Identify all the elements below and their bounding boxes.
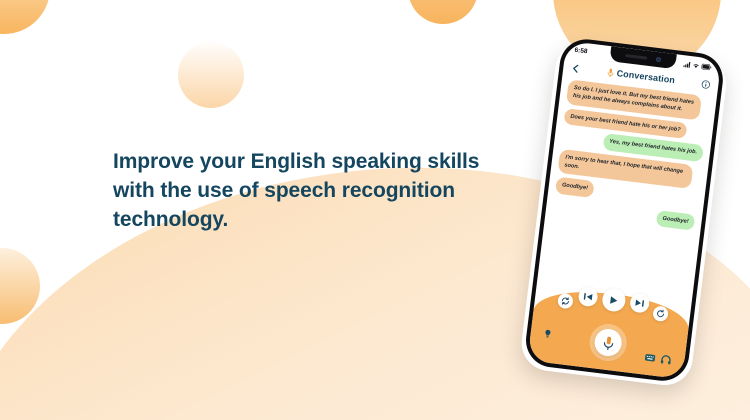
record-mic-button[interactable] — [593, 328, 623, 358]
media-controls-row — [534, 275, 693, 325]
mic-record-icon — [601, 335, 615, 350]
message-list: So do I. I just love it. But my best fri… — [545, 76, 717, 233]
signal-icon — [683, 61, 691, 68]
front-camera-icon — [656, 57, 662, 63]
bottom-right-actions — [644, 350, 672, 364]
back-chevron-icon[interactable] — [571, 63, 581, 73]
phone-mockup: 6:58 — [514, 33, 750, 394]
message-bubble: Goodbye! — [656, 210, 696, 231]
phone-screen: 6:58 — [527, 41, 721, 380]
decor-circle-mid-small — [178, 42, 244, 108]
next-track-icon — [633, 297, 645, 309]
playback-control-panel — [527, 285, 691, 379]
info-circle-icon[interactable] — [701, 79, 711, 89]
decor-circle-top-left — [0, 0, 50, 34]
replay-icon — [655, 309, 665, 319]
message-bubble: Goodbye! — [555, 177, 595, 198]
lightbulb-icon — [542, 328, 553, 339]
status-time: 6:58 — [574, 47, 588, 56]
previous-track-button[interactable] — [577, 286, 598, 307]
wifi-icon — [692, 62, 700, 69]
decor-circle-top-middle — [408, 0, 478, 24]
page-headline: Improve your English speaking skills wit… — [113, 148, 513, 235]
play-icon — [607, 293, 620, 306]
chat-title: Conversation — [616, 68, 675, 85]
play-button[interactable] — [601, 287, 627, 313]
battery-icon — [701, 63, 712, 70]
earpiece-speaker — [625, 54, 647, 60]
headphone-icon — [660, 354, 672, 366]
previous-track-icon — [581, 291, 593, 303]
mic-small-icon — [606, 67, 614, 77]
replay-button[interactable] — [652, 305, 669, 322]
loop-repeat-button[interactable] — [557, 293, 574, 310]
hint-button[interactable] — [543, 325, 554, 336]
next-track-button[interactable] — [629, 292, 650, 313]
keyboard-icon — [644, 352, 656, 364]
status-indicators — [683, 61, 712, 70]
listen-button[interactable] — [660, 352, 672, 364]
keyboard-button[interactable] — [644, 350, 656, 362]
loop-repeat-icon — [560, 296, 570, 306]
